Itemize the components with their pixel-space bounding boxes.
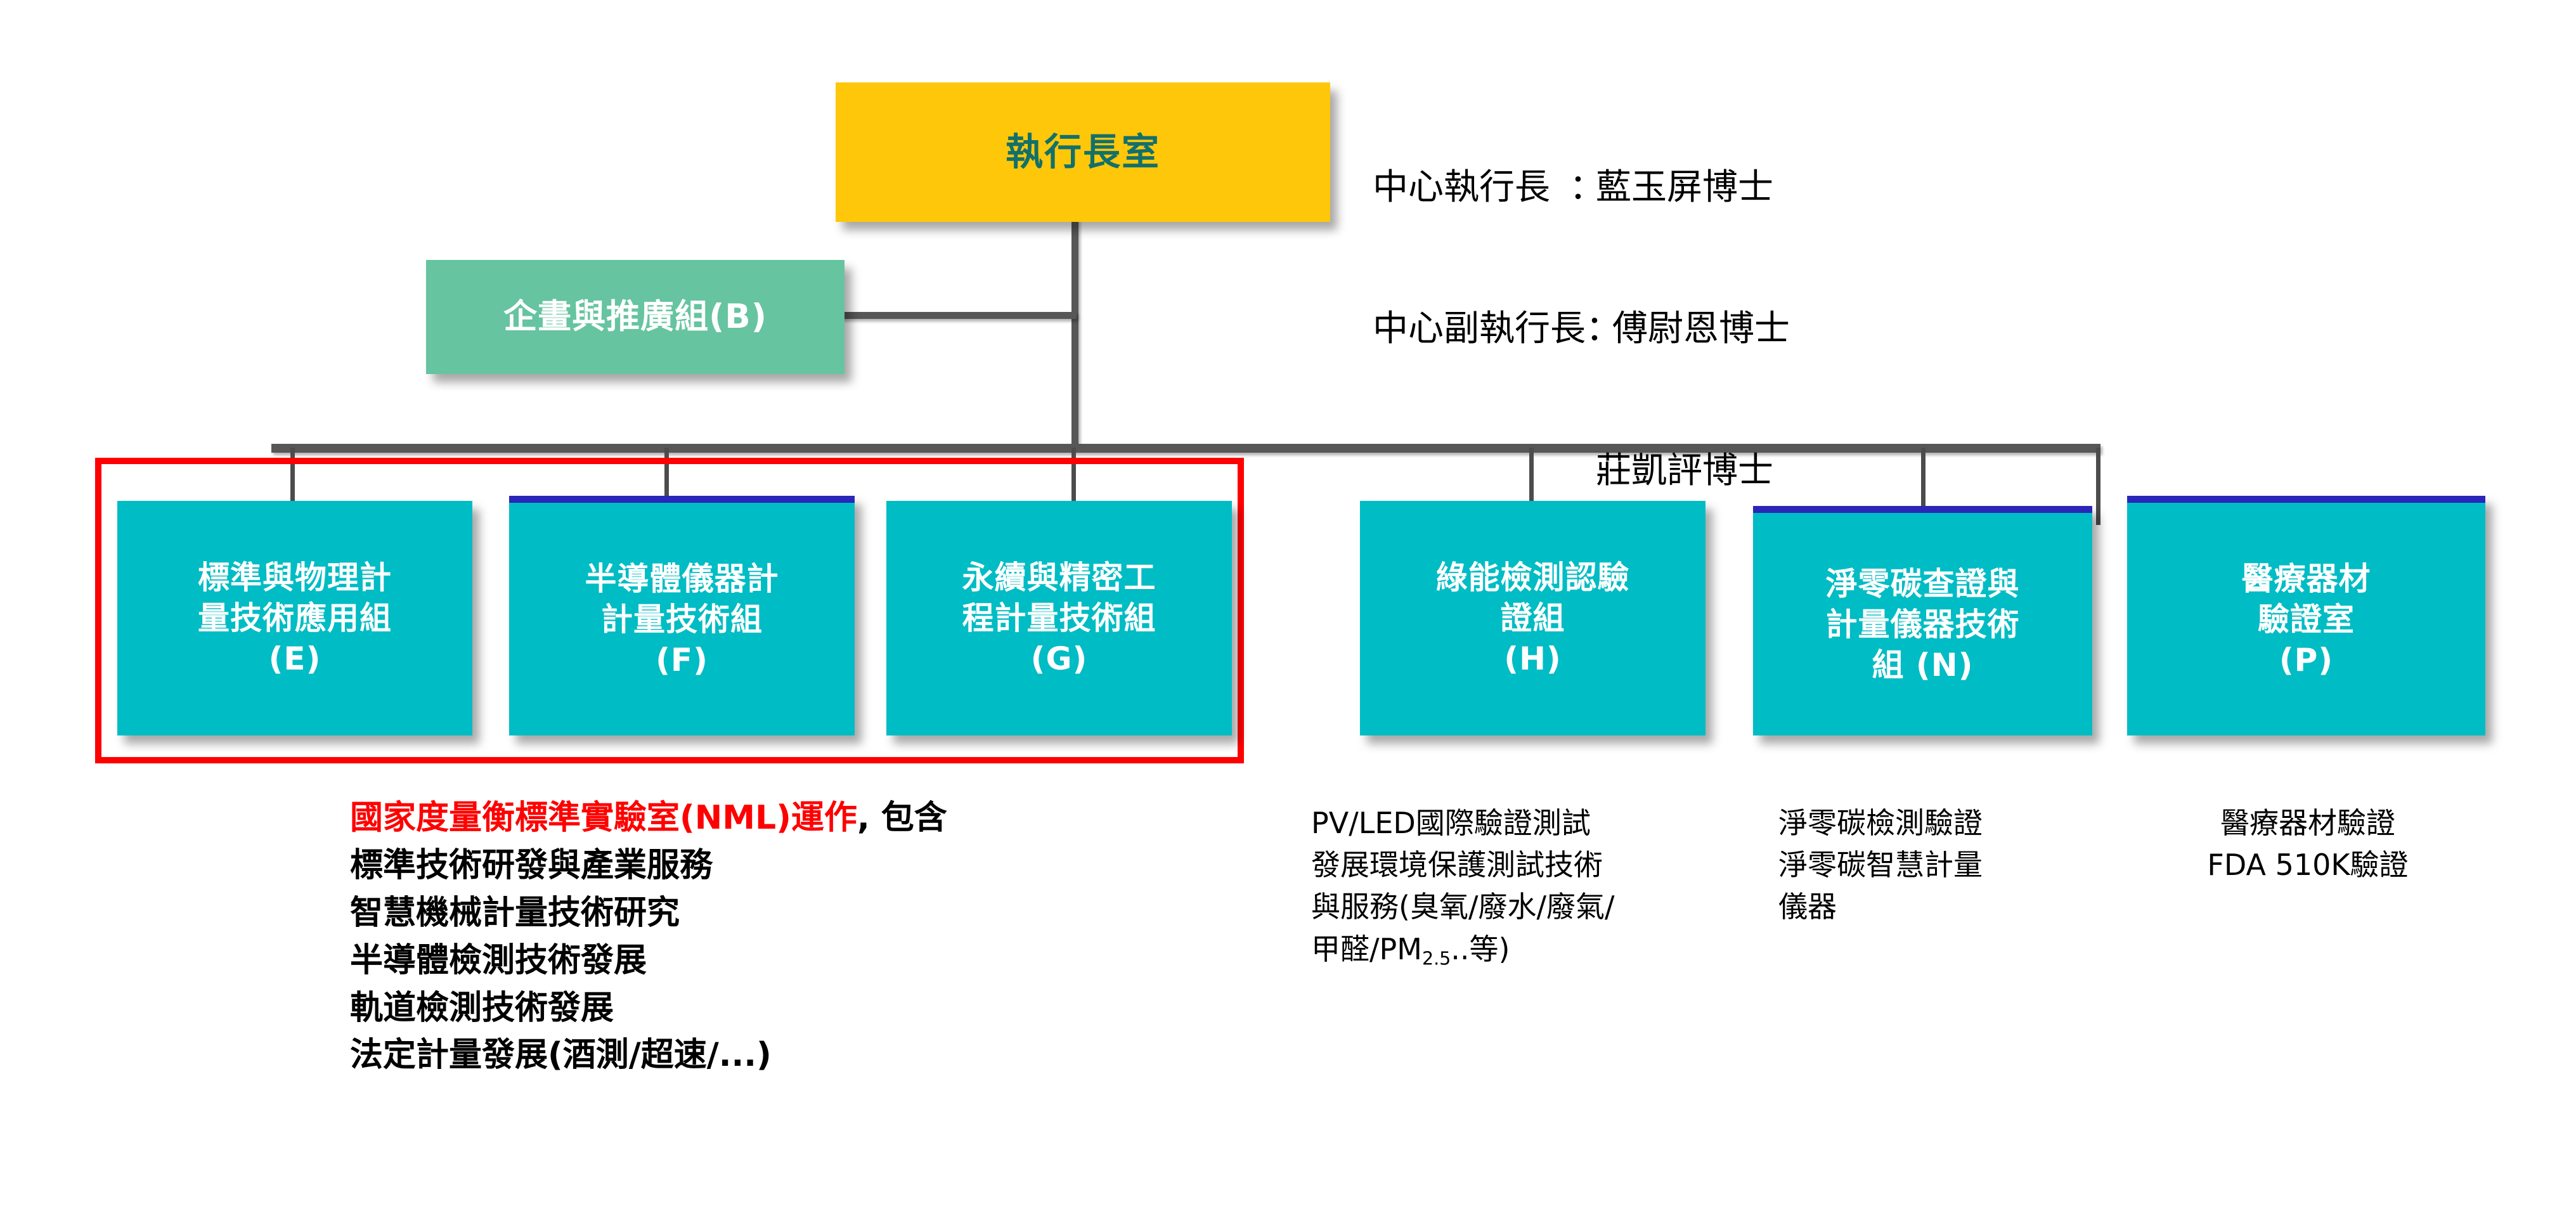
description-n-line-3: 儀器: [1778, 886, 2121, 928]
node-unit-g-line3: (G): [1031, 640, 1088, 677]
node-unit-n-label: 淨零碳查證與計量儀器技術組 (N): [1753, 564, 2092, 685]
roster-name: 藍玉屏博士: [1596, 164, 1773, 211]
node-ceo-office[interactable]: 執行長室: [836, 82, 1330, 222]
roster-name: 莊凱評博士: [1596, 448, 1773, 495]
description-efg-rest: , 包含: [857, 799, 947, 837]
node-unit-f-line2: 計量技術組: [601, 601, 763, 638]
description-efg-line-6: 法定計量發展(酒測/超速/...): [350, 1032, 1269, 1079]
description-n-line-1: 淨零碳檢測驗證: [1778, 802, 2121, 844]
description-efg: 國家度量衡標準實驗室(NML)運作, 包含 標準技術研發與產業服務 智慧機械計量…: [350, 794, 1269, 1079]
node-unit-e-line1: 標準與物理計: [198, 559, 392, 596]
description-n-line-2: 淨零碳智慧計量: [1778, 844, 2121, 886]
org-chart-canvas: 執行長室 中心執行長：藍玉屏博士 中心副執行長：傅尉恩博士 莊凱評博士 企畫與推…: [0, 0, 2576, 1211]
connector-group-b-horizontal: [836, 312, 1077, 319]
roster-row: 中心副執行長：傅尉恩博士: [1373, 306, 1790, 353]
connector-main-horizontal-bar: [271, 444, 2100, 453]
roster-separator: [1569, 448, 1596, 495]
description-h-line-4: 甲醛/PM2.5..等): [1311, 928, 1755, 972]
description-efg-line-1: 國家度量衡標準實驗室(NML)運作, 包含: [350, 794, 1269, 842]
description-p-line-2: FDA 510K驗證: [2121, 844, 2495, 886]
node-unit-g[interactable]: 永續與精密工程計量技術組(G): [886, 501, 1232, 735]
description-efg-line-2: 標準技術研發與產業服務: [350, 842, 1269, 890]
description-h-pm-subscript: 2.5: [1422, 948, 1451, 969]
description-h: PV/LED國際驗證測試 發展環境保護測試技術 與服務(臭氧/廢水/廢氣/ 甲醛…: [1311, 802, 1755, 971]
node-unit-n-line2: 計量儀器技術: [1826, 606, 2020, 643]
roster-role: [1373, 448, 1569, 495]
node-unit-p[interactable]: 醫療器材驗證室(P): [2127, 496, 2485, 735]
node-unit-h-line2: 證組: [1501, 600, 1565, 637]
node-unit-e[interactable]: 標準與物理計量技術應用組(E): [117, 501, 472, 735]
node-unit-p-line2: 驗證室: [2258, 601, 2355, 638]
description-efg-line-4: 半導體檢測技術發展: [350, 937, 1269, 985]
description-p: 醫療器材驗證 FDA 510K驗證: [2121, 802, 2495, 886]
description-efg-highlight: 國家度量衡標準實驗室(NML)運作: [350, 799, 857, 837]
description-p-line-1: 醫療器材驗證: [2121, 802, 2495, 844]
roster-name: 傅尉恩博士: [1612, 306, 1790, 353]
node-unit-h[interactable]: 綠能檢測認驗證組(H): [1360, 501, 1705, 735]
description-efg-line-5: 軌道檢測技術發展: [350, 985, 1269, 1032]
roster-row: 莊凱評博士: [1373, 448, 1790, 495]
node-unit-n-line3: 組 (N): [1872, 647, 1974, 683]
node-unit-h-line1: 綠能檢測認驗: [1436, 559, 1630, 596]
description-h-line-3: 與服務(臭氧/廢水/廢氣/: [1311, 886, 1755, 928]
roster-separator: ：: [1569, 164, 1596, 211]
node-unit-f-line3: (F): [656, 642, 708, 678]
node-unit-n-line1: 淨零碳查證與: [1826, 566, 2020, 602]
node-unit-f-label: 半導體儀器計計量技術組(F): [509, 559, 855, 680]
roster-separator: ：: [1586, 306, 1612, 353]
description-efg-line-3: 智慧機械計量技術研究: [350, 890, 1269, 937]
connector-trunk-vertical: [1071, 219, 1078, 447]
node-group-b-label: 企畫與推廣組(B): [426, 295, 845, 339]
description-n: 淨零碳檢測驗證 淨零碳智慧計量 儀器: [1778, 802, 2121, 928]
description-h-pm-suffix: ..等): [1451, 932, 1510, 966]
node-unit-h-label: 綠能檢測認驗證組(H): [1360, 557, 1705, 679]
node-unit-g-line1: 永續與精密工: [962, 559, 1156, 596]
roster-role: 中心副執行長: [1373, 306, 1586, 353]
node-unit-f-line1: 半導體儀器計: [585, 560, 779, 597]
connector-drop-p: [2096, 448, 2100, 525]
node-ceo-office-label: 執行長室: [836, 128, 1330, 176]
node-unit-g-line2: 程計量技術組: [962, 600, 1156, 637]
roster-role: 中心執行長: [1373, 164, 1569, 211]
node-unit-e-line2: 量技術應用組: [198, 600, 392, 637]
node-unit-g-label: 永續與精密工程計量技術組(G): [886, 557, 1232, 679]
node-unit-e-line3: (E): [269, 640, 321, 677]
description-h-pm-prefix: 甲醛/PM: [1311, 932, 1422, 966]
node-unit-p-line1: 醫療器材: [2242, 560, 2371, 597]
node-unit-h-line3: (H): [1504, 640, 1562, 677]
description-h-line-1: PV/LED國際驗證測試: [1311, 802, 1755, 844]
node-unit-e-label: 標準與物理計量技術應用組(E): [117, 557, 472, 679]
node-unit-p-line3: (P): [2279, 642, 2333, 678]
roster-row: 中心執行長：藍玉屏博士: [1373, 164, 1790, 211]
node-unit-n[interactable]: 淨零碳查證與計量儀器技術組 (N): [1753, 506, 2092, 735]
node-unit-f[interactable]: 半導體儀器計計量技術組(F): [509, 496, 855, 735]
node-group-b[interactable]: 企畫與推廣組(B): [426, 260, 845, 374]
description-h-line-2: 發展環境保護測試技術: [1311, 844, 1755, 886]
node-unit-p-label: 醫療器材驗證室(P): [2127, 559, 2485, 680]
